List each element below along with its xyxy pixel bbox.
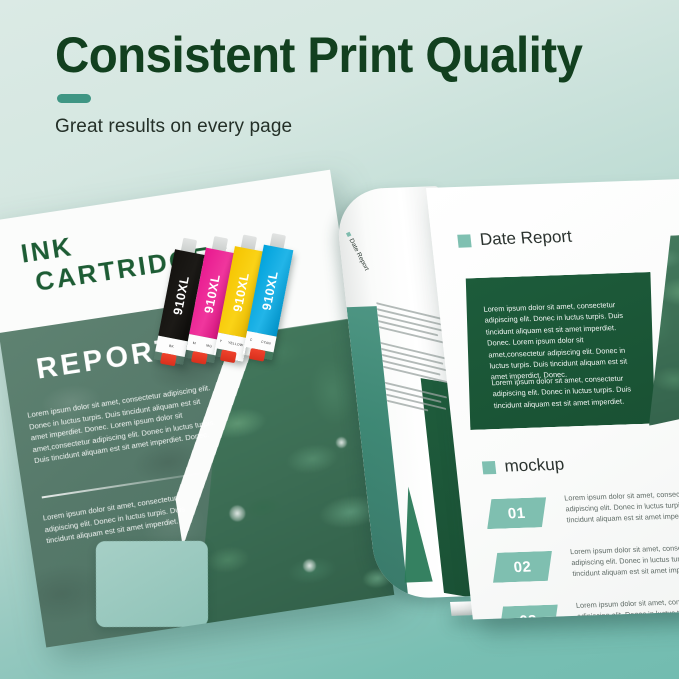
date-report-heading: Date Report xyxy=(457,227,573,251)
left-brochure-paragraph-2: Lorem ipsum dolor sit amet, consectetur … xyxy=(42,491,188,547)
step-number-badge: 02 xyxy=(490,551,555,583)
cartridge-model-label: 910XL xyxy=(202,273,223,315)
cartridge-model-label: 910XL xyxy=(260,270,281,312)
flower-bloom xyxy=(229,504,247,522)
step-text: Lorem ipsum dolor sit amet, consectetur … xyxy=(564,487,679,526)
cartridge-model-label: 910XL xyxy=(171,274,192,316)
left-brochure-teal-card xyxy=(96,541,208,627)
step-number: 03 xyxy=(519,612,538,620)
list-item: 03 Lorem ipsum dolor sit amet, consectet… xyxy=(495,594,679,619)
square-bullet-icon xyxy=(457,234,471,247)
hero-subtitle: Great results on every page xyxy=(55,116,655,138)
cartridge-color-code: C xyxy=(249,338,252,342)
date-report-paragraph-2: Lorem ipsum dolor sit amet, consectetur … xyxy=(491,372,647,411)
mockup-heading-text: mockup xyxy=(503,455,565,477)
ink-cartridge-group: 910XL BK 910XL M MG 910XL Y xyxy=(159,244,317,402)
list-item: 02 Lorem ipsum dolor sit amet, consectet… xyxy=(489,541,679,599)
square-bullet-icon xyxy=(482,461,496,474)
cartridge-model-label: 910XL xyxy=(231,271,252,313)
product-marketing-image: Consistent Print Quality Great results o… xyxy=(0,0,679,679)
step-number: 01 xyxy=(507,504,526,522)
step-text: Lorem ipsum dolor sit amet, consectetur … xyxy=(575,594,679,619)
accent-divider-icon xyxy=(57,94,91,103)
cartridge-nozzle-icon xyxy=(191,351,208,365)
cartridge-color-name: MG xyxy=(206,343,213,348)
date-report-paragraph-1: Lorem ipsum dolor sit amet, consectetur … xyxy=(483,298,644,383)
hero-text-block: Consistent Print Quality Great results o… xyxy=(55,28,655,138)
cartridge-color-name: YELLOW xyxy=(228,341,244,348)
page-title: Consistent Print Quality xyxy=(55,28,625,82)
curled-page-label-text: Date Report xyxy=(347,238,370,272)
cartridge-nozzle-icon xyxy=(249,348,266,362)
step-number: 02 xyxy=(513,558,532,576)
step-text: Lorem ipsum dolor sit amet, consectetur … xyxy=(570,540,679,579)
cartridge-color-code: Y xyxy=(219,339,222,343)
cartridge-nozzle-icon xyxy=(220,350,237,364)
step-number-badge: 01 xyxy=(484,497,549,529)
cartridge-color-code: M xyxy=(192,341,196,346)
date-report-green-panel: Lorem ipsum dolor sit amet, consectetur … xyxy=(454,272,667,430)
cartridge-color-name: CYAN xyxy=(261,340,272,346)
date-report-heading-text: Date Report xyxy=(479,227,573,250)
curled-page-label: Date Report xyxy=(344,231,389,308)
right-brochure-booklet: Date Report xyxy=(300,182,679,652)
mockup-heading: mockup xyxy=(481,455,565,478)
list-item: 01 Lorem ipsum dolor sit amet, consectet… xyxy=(484,487,679,545)
square-bullet-icon xyxy=(346,232,351,237)
step-number-badge: 03 xyxy=(496,605,561,620)
cartridge-color-code: BK xyxy=(169,344,175,349)
